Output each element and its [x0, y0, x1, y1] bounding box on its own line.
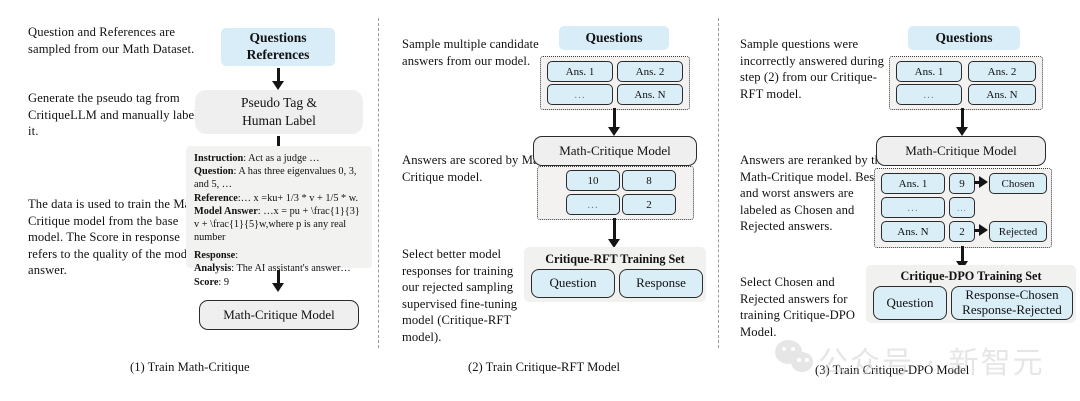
doc-label-score: Score — [194, 277, 218, 288]
wechat-bubble-small-icon — [791, 352, 813, 372]
panel2-score-chip-1: 10 — [566, 170, 620, 191]
panel2-score-label-2: 8 — [646, 175, 652, 187]
panel1-note-1: Question and References are sampled from… — [28, 24, 198, 57]
doc-row-question: Question: A has three eigenvalues 0, 3, … — [194, 165, 364, 191]
panel3-rerank-answer-2: ... — [881, 197, 945, 218]
panel2-answer-chip-1: Ans. 1 — [547, 61, 613, 82]
panel1-math-critique-model-box: Math-Critique Model — [199, 300, 359, 330]
panel3-rerank-label-text-3: Rejected — [999, 226, 1037, 238]
panel1-head-line2: References — [247, 47, 310, 64]
panel2-caption: (2) Train Critique-RFT Model — [468, 360, 620, 375]
panel3-answer-label-2: Ans. 2 — [988, 66, 1017, 78]
doc-text-score: : 9 — [218, 277, 229, 288]
panel3-model-label: Math-Critique Model — [905, 143, 1017, 159]
panel3-rerank-score-3: 2 — [949, 221, 975, 242]
panel1-stage-line1: Pseudo Tag & — [241, 94, 317, 112]
wechat-dot-3 — [797, 358, 801, 362]
panel2-answer-chip-2: Ans. 2 — [617, 61, 683, 82]
panel3-answer-chip-4: Ans. N — [968, 84, 1036, 105]
panel3-training-set-title: Critique-DPO Training Set — [866, 269, 1076, 284]
panel3-rerank-label-text-1: Chosen — [1002, 178, 1035, 190]
panel2-training-item-question: Question — [531, 269, 615, 298]
doc-label-analysis: Analysis — [194, 263, 231, 274]
doc-text-analysis: : The AI assistant's answer… — [231, 263, 351, 274]
panel2-score-chip-3: ... — [566, 194, 620, 215]
doc-text-instruction: : Act as a judge … — [243, 153, 319, 164]
panel3-note-2: Answers are reranked by the Math-Critiqu… — [740, 152, 888, 235]
panel3-answer-chip-2: Ans. 2 — [968, 61, 1036, 82]
panel3-rerank-score-label-1: 9 — [959, 178, 965, 190]
doc-text-reference: :… x =ku+ 1/3 * v + 1/5 * w. — [238, 193, 358, 204]
panel3-answer-chip-3: ... — [896, 84, 962, 105]
panel1-note-3: The data is used to train the Math-Criti… — [28, 196, 206, 279]
panel2-score-label-1: 10 — [588, 175, 599, 187]
panel3-training-item-responses: Response-Chosen Response-Rejected — [951, 286, 1073, 320]
panel1-note-2: Generate the pseudo tag from CritiqueLLM… — [28, 90, 203, 140]
panel2-answer-label-2: Ans. 2 — [636, 66, 665, 78]
panel3-rerank-answer-label-1: Ans. 1 — [899, 178, 928, 190]
panel1-questions-references-box: Questions References — [221, 28, 335, 66]
panel3-rerank-label-chosen: Chosen — [989, 173, 1047, 194]
panel-separator-2 — [718, 18, 719, 348]
panel2-answer-label-4: Ans. N — [634, 89, 665, 101]
panel1-stage-line2: Human Label — [242, 112, 316, 130]
doc-row-response: Response: — [194, 249, 364, 262]
panel2-training-item-question-label: Question — [550, 276, 597, 291]
panel3-note-3: Select Chosen and Rejected answers for t… — [740, 274, 864, 340]
panel2-answer-chip-3: ... — [547, 84, 613, 105]
panel3-answer-chip-1: Ans. 1 — [896, 61, 962, 82]
panel1-head-line1: Questions — [249, 30, 306, 47]
panel2-answer-chip-4: Ans. N — [617, 84, 683, 105]
panel2-score-label-3: ... — [587, 199, 598, 211]
doc-label-response: Response — [194, 250, 235, 261]
panel2-answer-label-3: ... — [574, 89, 585, 101]
panel2-score-chip-2: 8 — [622, 170, 676, 191]
panel3-math-critique-model-box: Math-Critique Model — [876, 136, 1046, 166]
panel3-rerank-score-label-2: ... — [957, 203, 967, 213]
panel3-note-1: Sample questions were incorrectly answer… — [740, 36, 892, 102]
panel3-caption: (3) Train Critique-DPO Model — [815, 363, 969, 378]
panel2-questions-box: Questions — [559, 26, 669, 50]
wechat-dot-2 — [791, 347, 795, 351]
panel2-note-3: Select better model responses for traini… — [402, 246, 524, 346]
panel3-head-line1: Questions — [935, 30, 992, 47]
panel3-rerank-answer-label-2: ... — [907, 202, 918, 214]
doc-row-reference: Reference:… x =ku+ 1/3 * v + 1/5 * w. — [194, 192, 364, 205]
panel3-rerank-score-2: ... — [949, 197, 975, 218]
wechat-dot-4 — [805, 358, 809, 362]
panel3-rerank-label-rejected: Rejected — [989, 221, 1047, 242]
doc-label-instruction: Instruction — [194, 153, 243, 164]
doc-label-question: Question — [194, 166, 233, 177]
panel2-training-item-response: Response — [619, 269, 703, 298]
panel2-training-item-response-label: Response — [636, 276, 686, 291]
panel3-rerank-answer-label-3: Ans. N — [897, 226, 928, 238]
panel3-questions-box: Questions — [908, 26, 1020, 50]
panel3-training-item-question: Question — [873, 286, 947, 320]
figure-root: Question and References are sampled from… — [0, 0, 1080, 401]
panel1-model-label: Math-Critique Model — [223, 307, 335, 323]
panel2-note-2: Answers are scored by Math-Critique mode… — [402, 152, 554, 185]
panel3-answer-label-3: ... — [923, 89, 934, 101]
panel3-rerank-answer-1: Ans. 1 — [881, 173, 945, 194]
panel2-note-1: Sample multiple candidate answers from o… — [402, 36, 552, 69]
panel3-rerank-score-label-3: 2 — [959, 226, 965, 238]
panel3-rerank-score-1: 9 — [949, 173, 975, 194]
doc-label-model-answer: Model Answer — [194, 206, 258, 217]
panel1-caption: (1) Train Math-Critique — [130, 360, 250, 375]
panel3-training-item-response-rejected: Response-Rejected — [962, 303, 1062, 318]
panel2-score-chip-4: 2 — [622, 194, 676, 215]
panel2-model-label: Math-Critique Model — [559, 143, 671, 159]
doc-label-reference: Reference — [194, 193, 238, 204]
panel3-training-item-response-chosen: Response-Chosen — [965, 288, 1058, 303]
panel2-head-line1: Questions — [585, 30, 642, 47]
doc-text-response: : — [235, 250, 238, 261]
panel2-score-label-4: 2 — [646, 199, 652, 211]
panel-separator-1 — [378, 18, 379, 348]
panel3-rerank-answer-3: Ans. N — [881, 221, 945, 242]
wechat-bubble-large-icon — [775, 340, 802, 364]
panel1-example-document: Instruction: Act as a judge … Question: … — [186, 146, 372, 268]
panel3-training-item-question-label: Question — [887, 296, 934, 311]
panel2-math-critique-model-box: Math-Critique Model — [533, 136, 697, 166]
wechat-dot-1 — [782, 347, 786, 351]
panel2-answer-label-1: Ans. 1 — [566, 66, 595, 78]
panel1-pseudo-tag-box: Pseudo Tag & Human Label — [195, 90, 363, 134]
panel3-answer-label-4: Ans. N — [986, 89, 1017, 101]
doc-row-model-answer: Model Answer: …x = pu + \frac{1}{3} v + … — [194, 205, 364, 245]
panel2-training-set-title: Critique-RFT Training Set — [524, 252, 706, 267]
doc-row-instruction: Instruction: Act as a judge … — [194, 152, 364, 165]
panel3-answer-label-1: Ans. 1 — [915, 66, 944, 78]
